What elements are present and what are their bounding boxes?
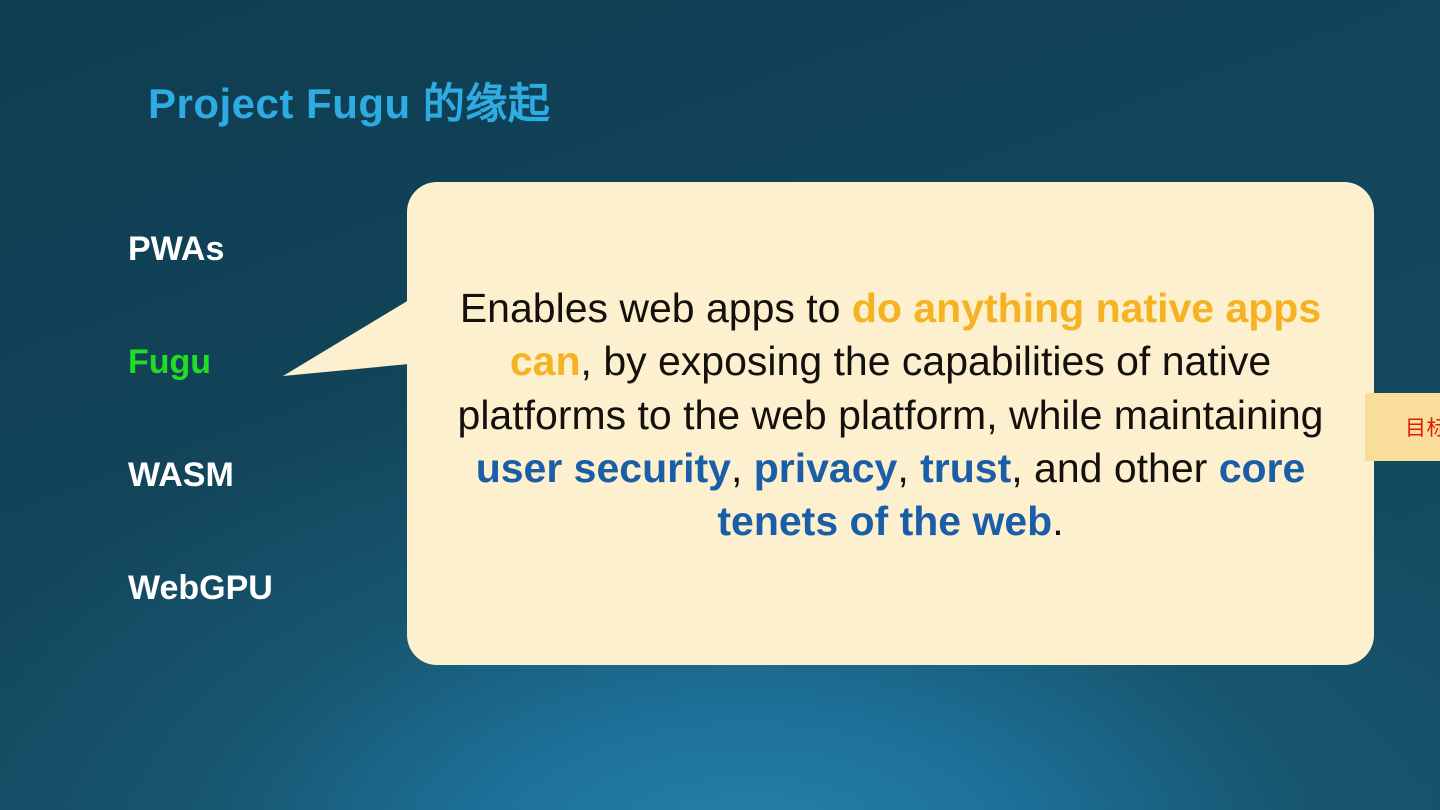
nav-item-label: Fugu [128,345,211,379]
paragraph-segment-plain: , by exposing the capabilities of native… [458,338,1324,437]
nav-item-label: PWAs [128,232,224,266]
speech-bubble-tail-icon [283,300,409,376]
bubble-paragraph: Enables web apps to do anything native a… [447,282,1334,548]
nav-item-label: WebGPU [128,571,273,605]
goal-banner-text: 目标：Native 能干啥，Web 就能干啥 [1405,412,1440,442]
page-title: Project Fugu 的缘起 [148,70,550,131]
paragraph-segment-blue: trust [920,445,1011,491]
paragraph-segment-blue: privacy [754,445,898,491]
nav-item-wasm[interactable]: WASM [128,458,378,571]
goal-banner: 目标：Native 能干啥，Web 就能干啥 [1365,393,1440,461]
paragraph-segment-plain: . [1052,498,1063,544]
paragraph-segment-blue: user security [476,445,731,491]
nav-item-label: WASM [128,458,234,492]
page-title-en: Project Fugu [148,80,411,127]
paragraph-segment-plain: Enables web apps to [460,285,852,331]
paragraph-segment-plain: , [731,445,754,491]
page-title-cn: 的缘起 [423,80,551,127]
paragraph-segment-plain: , [897,445,920,491]
paragraph-segment-plain: , and other [1011,445,1218,491]
nav-item-webgpu[interactable]: WebGPU [128,571,378,684]
speech-bubble: 目标：Native 能干啥，Web 就能干啥 Enables web apps … [407,182,1374,665]
